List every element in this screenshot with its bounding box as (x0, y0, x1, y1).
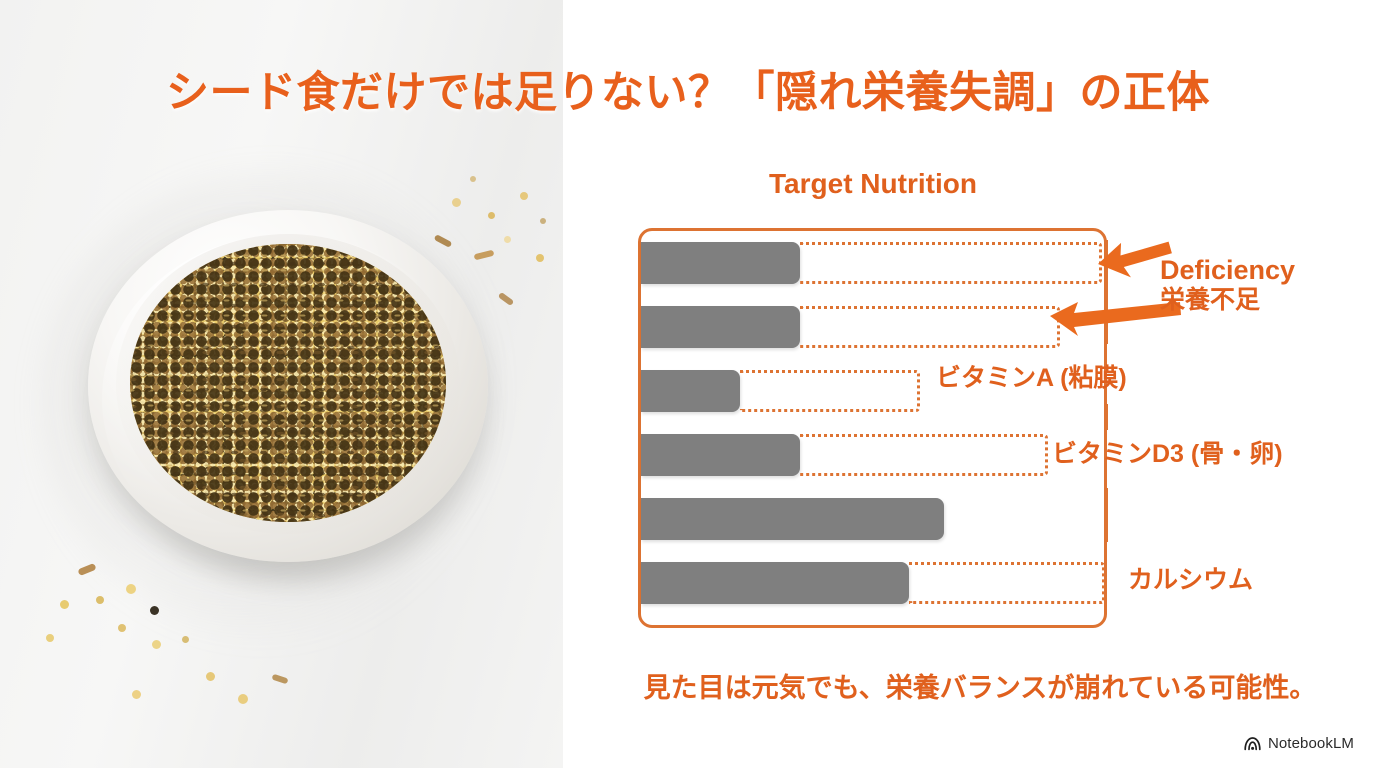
deficiency-label-en: Deficiency (1160, 256, 1295, 284)
bar-row-4-vitamin-d3 (641, 434, 800, 476)
slide-root: シード食だけでは足りない？「隠れ栄養失調」の正体 Target Nutritio… (0, 0, 1376, 768)
chart-title: Target Nutrition (638, 168, 1108, 200)
scattered-seed (470, 176, 476, 182)
target-axis-segment (1105, 488, 1108, 542)
bar-row-3-vitamin-a (641, 370, 740, 412)
target-axis-segment (1105, 404, 1108, 430)
scattered-seed (536, 254, 544, 262)
seed-mixture (130, 244, 446, 522)
scattered-seed (126, 584, 136, 594)
slide-caption: 見た目は元気でも、栄養バランスが崩れている可能性。 (600, 666, 1360, 705)
deficiency-gap-row-2 (800, 306, 1060, 348)
scattered-seed (488, 212, 495, 219)
bowl-body (88, 210, 488, 562)
scattered-seed (118, 624, 126, 632)
scattered-seed (150, 606, 159, 615)
scattered-seed (540, 218, 546, 224)
bar-row-2 (641, 306, 800, 348)
deficiency-annotation: Deficiency 栄養不足 (1160, 256, 1295, 316)
deficiency-gap-row-4 (800, 434, 1048, 476)
page-title: シード食だけでは足りない？「隠れ栄養失調」の正体 (0, 58, 1376, 120)
bar-row-6-calcium (641, 562, 909, 604)
scattered-seed (132, 690, 141, 699)
bar-row-5 (641, 498, 944, 540)
scattered-seed (271, 674, 288, 685)
chart-label-calcium: カルシウム (1128, 566, 1253, 594)
bar-chart-plot-area (638, 228, 1107, 628)
seed-texture-layer-oblong (130, 244, 446, 522)
deficiency-gap-row-6 (909, 562, 1105, 604)
chart-label-vitamin-d3: ビタミンD3 (骨・卵) (1052, 440, 1283, 468)
chart-label-vitamin-a: ビタミンA (粘膜) (936, 364, 1127, 392)
scattered-seed (238, 694, 248, 704)
scattered-seed (520, 192, 528, 200)
bar-row-1 (641, 242, 800, 284)
notebooklm-logo-icon (1244, 736, 1261, 751)
seed-bowl (88, 196, 488, 596)
scattered-seed (152, 640, 161, 649)
notebooklm-wordmark: NotebookLM (1268, 735, 1354, 752)
scattered-seed (60, 600, 69, 609)
scattered-seed (182, 636, 189, 643)
scattered-seed (206, 672, 215, 681)
scattered-seed (498, 292, 514, 306)
deficiency-gap-row-3 (740, 370, 920, 412)
notebooklm-watermark: NotebookLM (1244, 735, 1354, 752)
scattered-seed (96, 596, 104, 604)
scattered-seed (504, 236, 511, 243)
deficiency-gap-row-1 (800, 242, 1102, 284)
scattered-seed (46, 634, 54, 642)
deficiency-label-jp: 栄養不足 (1160, 286, 1295, 316)
